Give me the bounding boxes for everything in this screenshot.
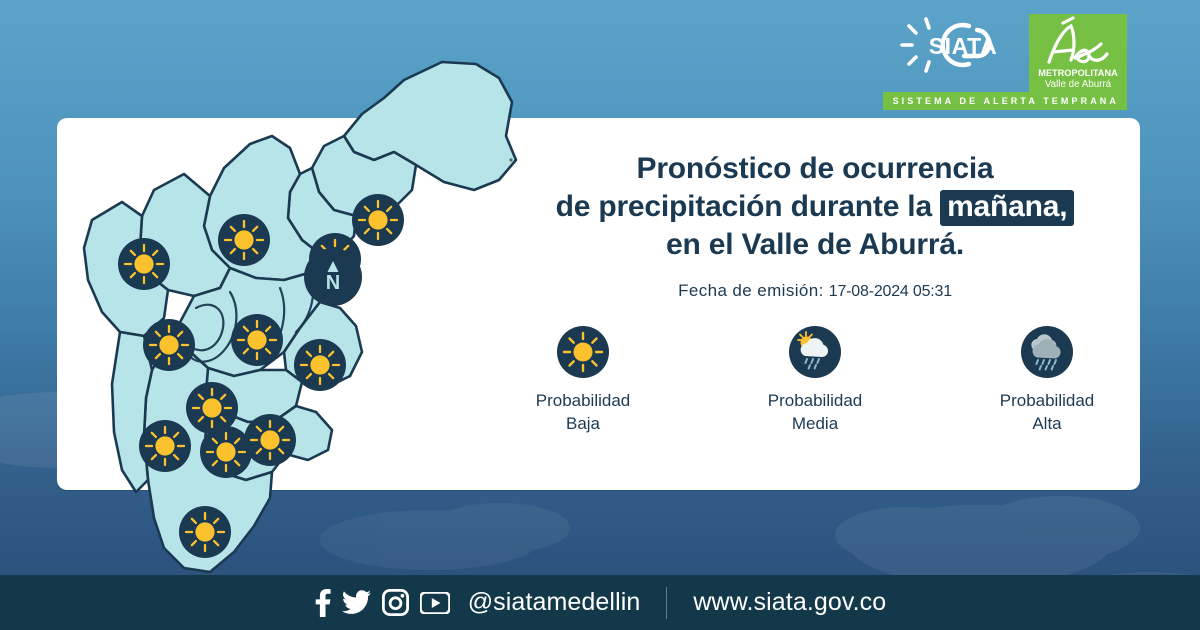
siata-logo[interactable]: SIATA (899, 14, 1021, 86)
legend-label-high: Probabilidad Alta (969, 390, 1125, 436)
sun-icon (557, 326, 609, 378)
instagram-icon[interactable] (382, 589, 409, 616)
rain-cloud-icon (1021, 326, 1073, 378)
area-logo-sub2: Valle de Aburrá (1045, 79, 1112, 90)
title-line-2-text: de precipitación durante la (556, 190, 932, 223)
sun-icon (294, 339, 346, 391)
sun-icon (244, 414, 296, 466)
map-marker-sun-icon[interactable] (139, 420, 191, 472)
area-logo-sub1: METROPOLITANA (1038, 68, 1118, 78)
compass-rose: N (304, 248, 362, 306)
map-svg (44, 40, 514, 580)
legend-label-low-line1: Probabilidad (505, 390, 661, 413)
social-handle[interactable]: @siatamedellin (468, 588, 641, 617)
legend-label-high-line2: Alta (969, 413, 1125, 436)
website-url[interactable]: www.siata.gov.co (693, 588, 886, 617)
twitter-icon[interactable] (342, 590, 371, 616)
legend-label-medium-line2: Media (737, 413, 893, 436)
tagline-banner: SISTEMA DE ALERTA TEMPRANA (883, 92, 1127, 110)
compass-label: N (326, 272, 340, 294)
map-marker-sun-icon[interactable] (294, 339, 346, 391)
sun-icon (218, 214, 270, 266)
youtube-icon[interactable] (420, 592, 450, 614)
page-title: Pronóstico de ocurrencia de precipitació… (505, 150, 1125, 264)
emission-date-value: 17-08-2024 05:31 (829, 283, 952, 300)
logo-group: SIATA METROPOLITANA Valle de Aburrá (899, 14, 1127, 92)
social-icons (314, 589, 450, 617)
sun-icon (179, 506, 231, 558)
map-marker-sun-icon[interactable] (143, 319, 195, 371)
title-line-1: Pronóstico de ocurrencia (505, 150, 1125, 188)
legend-label-medium-line1: Probabilidad (737, 390, 893, 413)
sun-icon (231, 314, 283, 366)
siata-logo-text: SIATA (929, 33, 998, 59)
legend-item-baja[interactable]: Probabilidad Baja (505, 326, 661, 436)
title-highlight-period: mañana, (940, 190, 1074, 226)
title-line-2: de precipitación durante la mañana, (505, 188, 1125, 226)
legend-icon-medium-wrap (737, 326, 893, 378)
forecast-panel: Pronóstico de ocurrencia de precipitació… (505, 150, 1125, 436)
legend-label-high-line1: Probabilidad (969, 390, 1125, 413)
probability-legend: Probabilidad Baja (505, 326, 1125, 436)
footer-divider (666, 587, 667, 619)
map-marker-sun-icon[interactable] (179, 506, 231, 558)
map-marker-sun-icon[interactable] (218, 214, 270, 266)
footer-bar: @siatamedellin www.siata.gov.co (0, 575, 1200, 630)
sun-icon (139, 420, 191, 472)
sun-icon (143, 319, 195, 371)
aburra-valley-map[interactable]: N (44, 40, 514, 580)
emission-date-label: Fecha de emisión: (678, 281, 824, 300)
title-line-3: en el Valle de Aburrá. (505, 226, 1125, 264)
area-metropolitana-logo[interactable]: METROPOLITANA Valle de Aburrá (1029, 14, 1127, 92)
map-marker-sun-icon[interactable] (231, 314, 283, 366)
emission-date: Fecha de emisión:17-08-2024 05:31 (505, 281, 1125, 301)
facebook-icon[interactable] (314, 589, 331, 617)
sun-icon (118, 238, 170, 290)
sun-rain-cloud-icon (789, 326, 841, 378)
legend-item-alta[interactable]: Probabilidad Alta (969, 326, 1125, 436)
legend-label-low-line2: Baja (505, 413, 661, 436)
legend-label-low: Probabilidad Baja (505, 390, 661, 436)
map-marker-sun-icon[interactable] (118, 238, 170, 290)
legend-label-medium: Probabilidad Media (737, 390, 893, 436)
map-marker-sun-icon[interactable] (244, 414, 296, 466)
legend-icon-low-wrap (505, 326, 661, 378)
legend-item-media[interactable]: Probabilidad Media (737, 326, 893, 436)
legend-icon-high-wrap (969, 326, 1125, 378)
